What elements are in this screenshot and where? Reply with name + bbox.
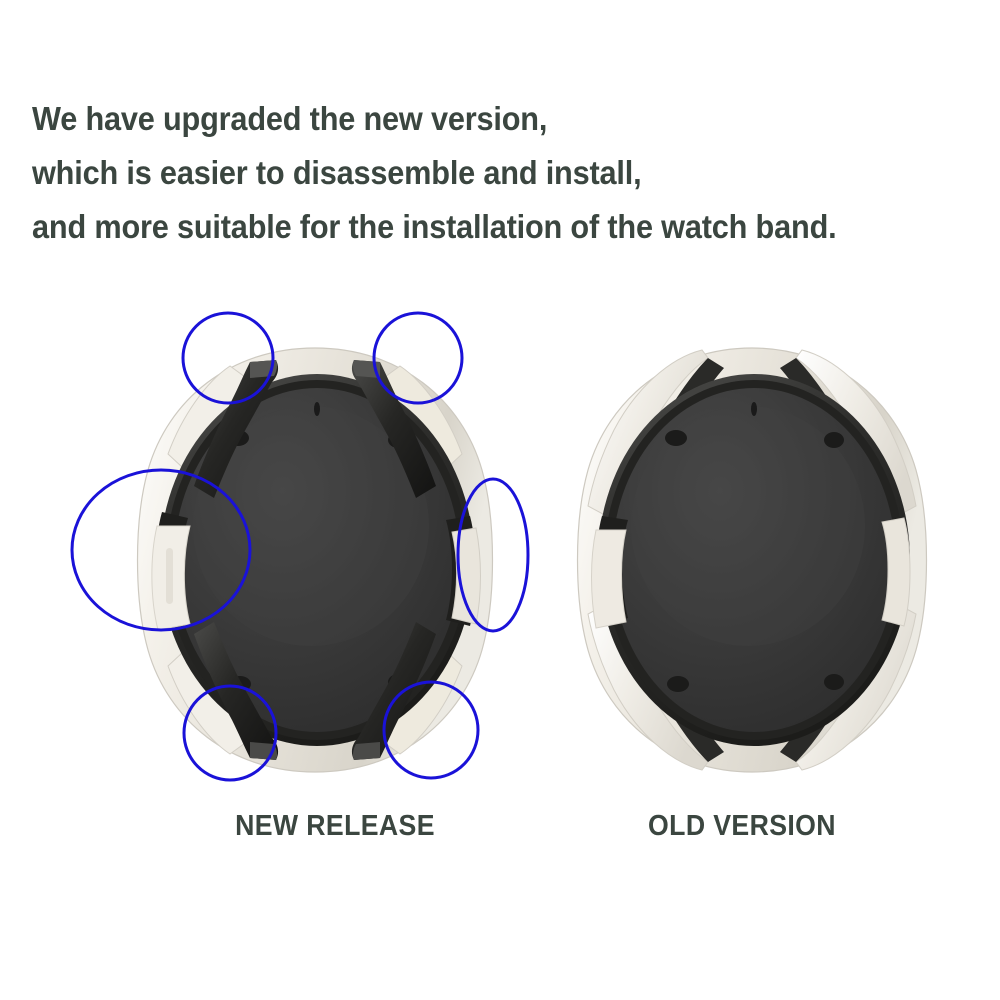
watch-case-old-version — [552, 330, 952, 790]
side-button-cover-left — [152, 512, 190, 630]
watch-screen — [612, 388, 896, 732]
product-label-new-release: NEW RELEASE — [123, 810, 546, 843]
product-label-old-version: OLD VERSION — [530, 810, 953, 843]
headline-line-2: which is easier to disassemble and insta… — [32, 146, 916, 200]
watch-case-new-release — [110, 330, 520, 790]
headline-line-1: We have upgraded the new version, — [32, 92, 916, 146]
headline-line-3: and more suitable for the installation o… — [32, 200, 916, 254]
sensor-pinhole-icon — [314, 402, 320, 416]
sensor-pinhole-icon — [751, 402, 757, 416]
product-comparison-image: We have upgraded the new version, which … — [0, 0, 1000, 1000]
headline-block: We have upgraded the new version, which … — [32, 92, 982, 254]
